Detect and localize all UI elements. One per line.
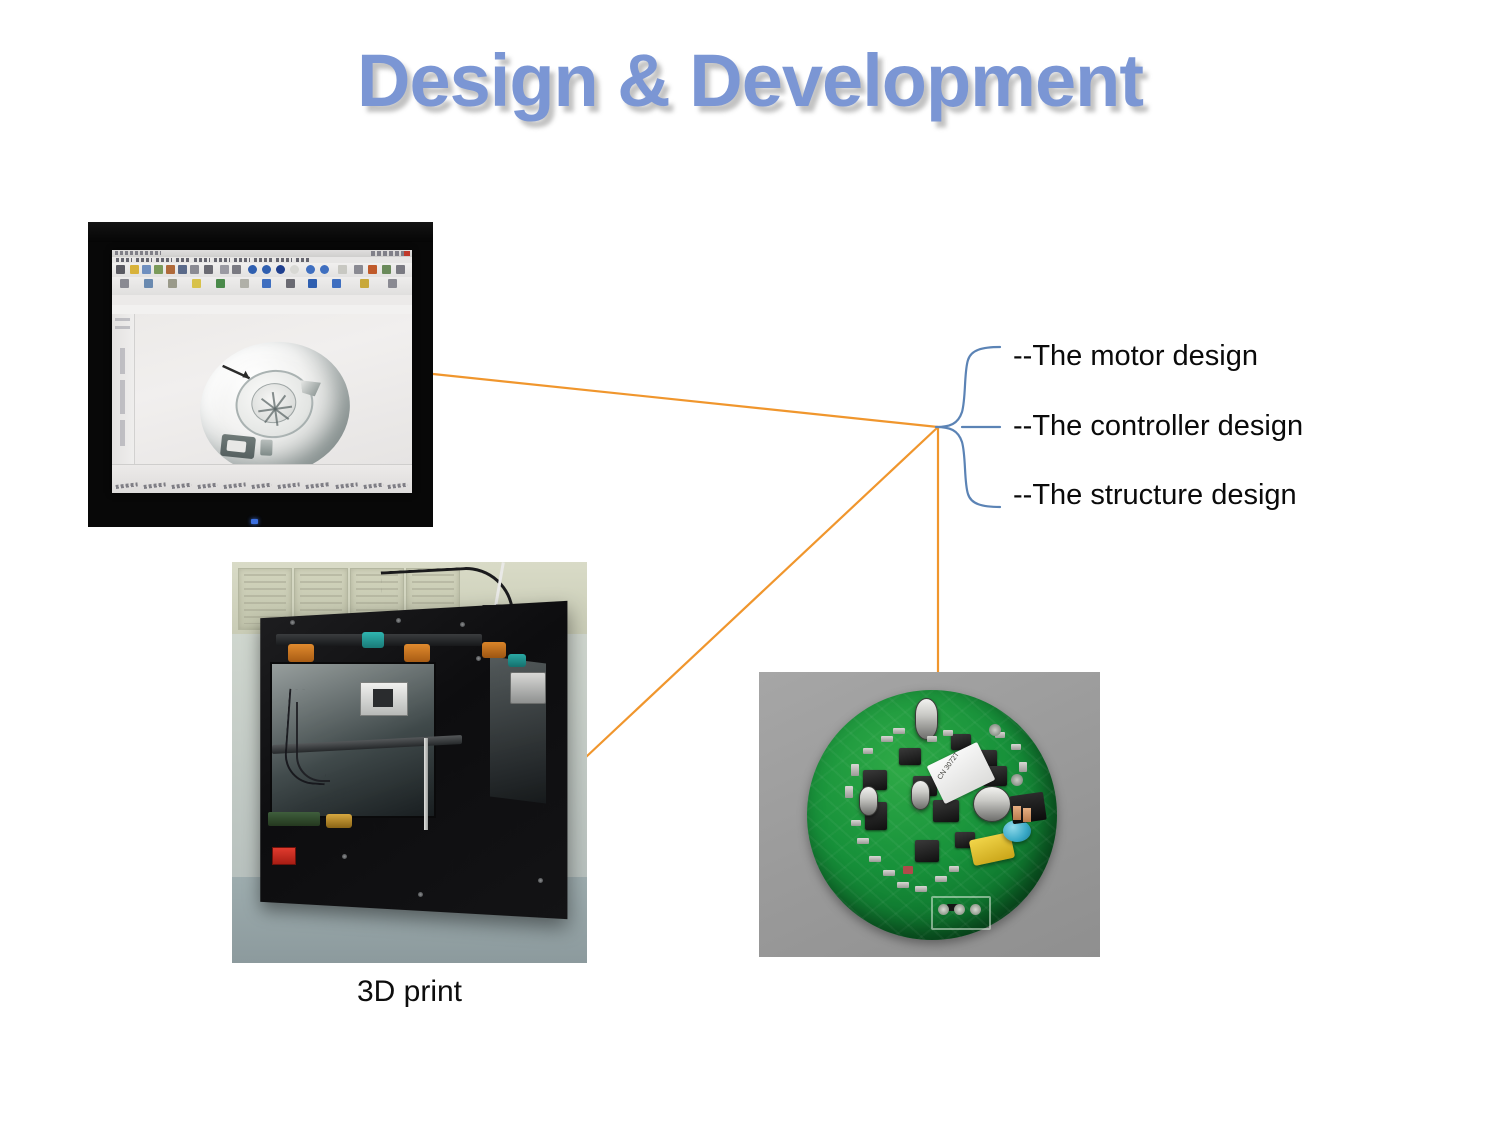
connector-lines <box>0 0 1500 1125</box>
pcb-capacitor-large <box>973 786 1011 822</box>
printer-extruder <box>360 682 408 716</box>
printer-power-switch[interactable] <box>272 847 296 865</box>
printer-stepper-motor <box>510 672 546 704</box>
cad-window-title-text <box>115 251 161 255</box>
printer-display <box>268 812 320 826</box>
close-icon[interactable] <box>404 251 410 256</box>
printer-z-rod <box>424 738 428 830</box>
cad-statusbar <box>112 464 412 493</box>
printer-teal-part-front <box>362 632 384 648</box>
printer-pulley-right <box>404 644 430 662</box>
printer-wire-bundle-2 <box>296 702 330 782</box>
curly-brace-icon <box>936 347 1000 507</box>
description-item-motor: --The motor design <box>1013 342 1258 371</box>
printer-caption: 3D print <box>232 975 587 1009</box>
printer-pulley-far <box>482 642 506 658</box>
printer-brass-fitting <box>326 814 352 828</box>
cad-screenshot-photo <box>88 222 433 527</box>
pcb-capacitor-left <box>859 786 878 816</box>
monitor-bezel <box>88 222 433 242</box>
cad-toolbar-primary[interactable] <box>112 263 412 278</box>
page-title: Design & Development <box>0 38 1500 123</box>
cad-annotation-arrow-icon <box>221 360 258 387</box>
monitor-screen <box>112 250 412 493</box>
description-item-structure: --The structure design <box>1013 481 1297 510</box>
monitor-power-led <box>251 519 258 524</box>
slide-canvas: Design & Development <box>0 0 1500 1125</box>
cad-connector-line <box>433 374 938 427</box>
controller-pcb: CN 3072T <box>807 690 1057 940</box>
printer-pulley-left <box>288 644 314 662</box>
printer-teal-part-side <box>508 654 526 667</box>
printer-photo <box>232 562 587 963</box>
cad-viewport[interactable] <box>112 314 412 464</box>
cad-toolbar-secondary[interactable] <box>112 277 412 296</box>
description-item-controller: --The controller design <box>1013 412 1303 441</box>
motor-cad-model <box>192 332 359 484</box>
pcb-photo: CN 3072T <box>759 672 1100 957</box>
cad-navigator-panel[interactable] <box>112 314 135 464</box>
pcb-capacitor-top <box>915 698 938 740</box>
pcb-capacitor-mid <box>911 780 930 810</box>
